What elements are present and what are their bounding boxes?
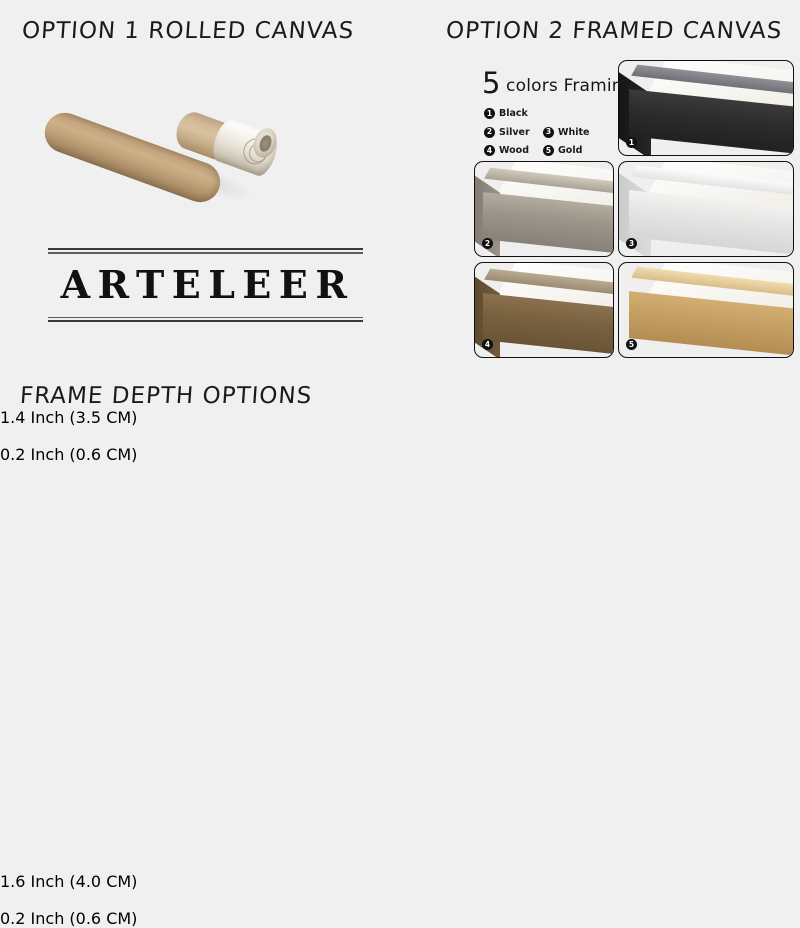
legend-item-black: 1 Black xyxy=(484,108,543,119)
legend-label: Silver xyxy=(499,127,530,138)
framing-options-panel: 5 colors Framing 1 Black 2 Silver 3 Whit… xyxy=(470,58,796,360)
number-badge-icon: 4 xyxy=(482,339,493,350)
leg-drop-shadow xyxy=(0,812,124,846)
infographic-page: OPTION 1 ROLLED CANVAS OPTION 2 FRAMED C… xyxy=(0,0,800,800)
number-badge-icon: 3 xyxy=(626,238,637,249)
legend-item-gold: 5 Gold xyxy=(543,145,602,156)
legend-item-silver: 2 Silver xyxy=(484,127,543,138)
section-heading-option-2: OPTION 2 FRAMED CANVAS xyxy=(445,18,783,44)
number-badge-icon: 2 xyxy=(482,238,493,249)
legend-row: 1 Black xyxy=(484,108,614,119)
frame-vertical-moulding xyxy=(0,464,82,642)
frame-swatch-card-wood[interactable]: 4 xyxy=(474,262,614,358)
frame-swatch-card-gold[interactable]: 5 xyxy=(618,262,794,358)
number-badge-icon: 2 xyxy=(484,127,495,138)
frame-swatch-card-white[interactable]: 3 xyxy=(618,161,794,257)
frame-depth-photo-right: 1.6 Inch (4.0 CM) 0.2 Inch (0.6 CM) xyxy=(0,464,800,928)
dimension-label-frame-depth: 1.4 Inch (3.5 CM) xyxy=(0,408,800,427)
legend-row: 4 Wood 5 Gold xyxy=(484,145,614,156)
dimension-label-frame-depth: 1.6 Inch (4.0 CM) xyxy=(0,872,800,891)
number-badge-icon: 1 xyxy=(484,108,495,119)
legend-row: 2 Silver 3 White xyxy=(484,127,614,138)
number-badge-icon: 5 xyxy=(543,145,554,156)
section-heading-option-1: OPTION 1 ROLLED CANVAS xyxy=(21,18,355,44)
dimension-label-reveal-depth: 0.2 Inch (0.6 CM) xyxy=(0,909,800,928)
divider-rule xyxy=(48,317,363,318)
frame-swatch-card-black[interactable]: 1 xyxy=(618,60,794,156)
frame-swatch-card-silver[interactable]: 2 xyxy=(474,161,614,257)
framing-count: 5 xyxy=(482,66,500,100)
frame-corner-render xyxy=(475,162,613,256)
legend-label: Gold xyxy=(558,145,582,156)
legend-label: White xyxy=(558,127,589,138)
frame-corner-render xyxy=(475,263,613,357)
section-heading-frame-depth: FRAME DEPTH OPTIONS xyxy=(19,383,313,409)
rail-drop-shadow xyxy=(0,846,228,872)
legend-label: Wood xyxy=(499,145,529,156)
divider-rule xyxy=(48,320,363,322)
legend-label: Black xyxy=(499,108,528,119)
framing-color-legend: 1 Black 2 Silver 3 White 4 Wood xyxy=(484,108,614,164)
dimension-tick-reveal xyxy=(0,427,800,445)
brand-logo-block: ARTELEER xyxy=(48,248,363,322)
framing-title: 5 colors Framing xyxy=(482,66,634,100)
number-badge-icon: 3 xyxy=(543,127,554,138)
framing-title-text: colors Framing xyxy=(500,76,633,96)
leg-drop-shadow xyxy=(0,348,120,382)
frame-corner-render xyxy=(619,263,793,357)
dimension-label-reveal-depth: 0.2 Inch (0.6 CM) xyxy=(0,445,800,464)
frame-vertical-foot xyxy=(0,642,82,654)
frame-corner-render xyxy=(619,61,793,155)
number-badge-icon: 1 xyxy=(626,137,637,148)
logo-divider-bottom xyxy=(48,317,363,323)
dimension-tick-reveal xyxy=(0,891,800,909)
frame-corner-render xyxy=(619,162,793,256)
number-badge-icon: 5 xyxy=(626,339,637,350)
legend-item-wood: 4 Wood xyxy=(484,145,543,156)
number-badge-icon: 4 xyxy=(484,145,495,156)
legend-item-white: 3 White xyxy=(543,127,602,138)
brand-name: ARTELEER xyxy=(48,254,363,317)
